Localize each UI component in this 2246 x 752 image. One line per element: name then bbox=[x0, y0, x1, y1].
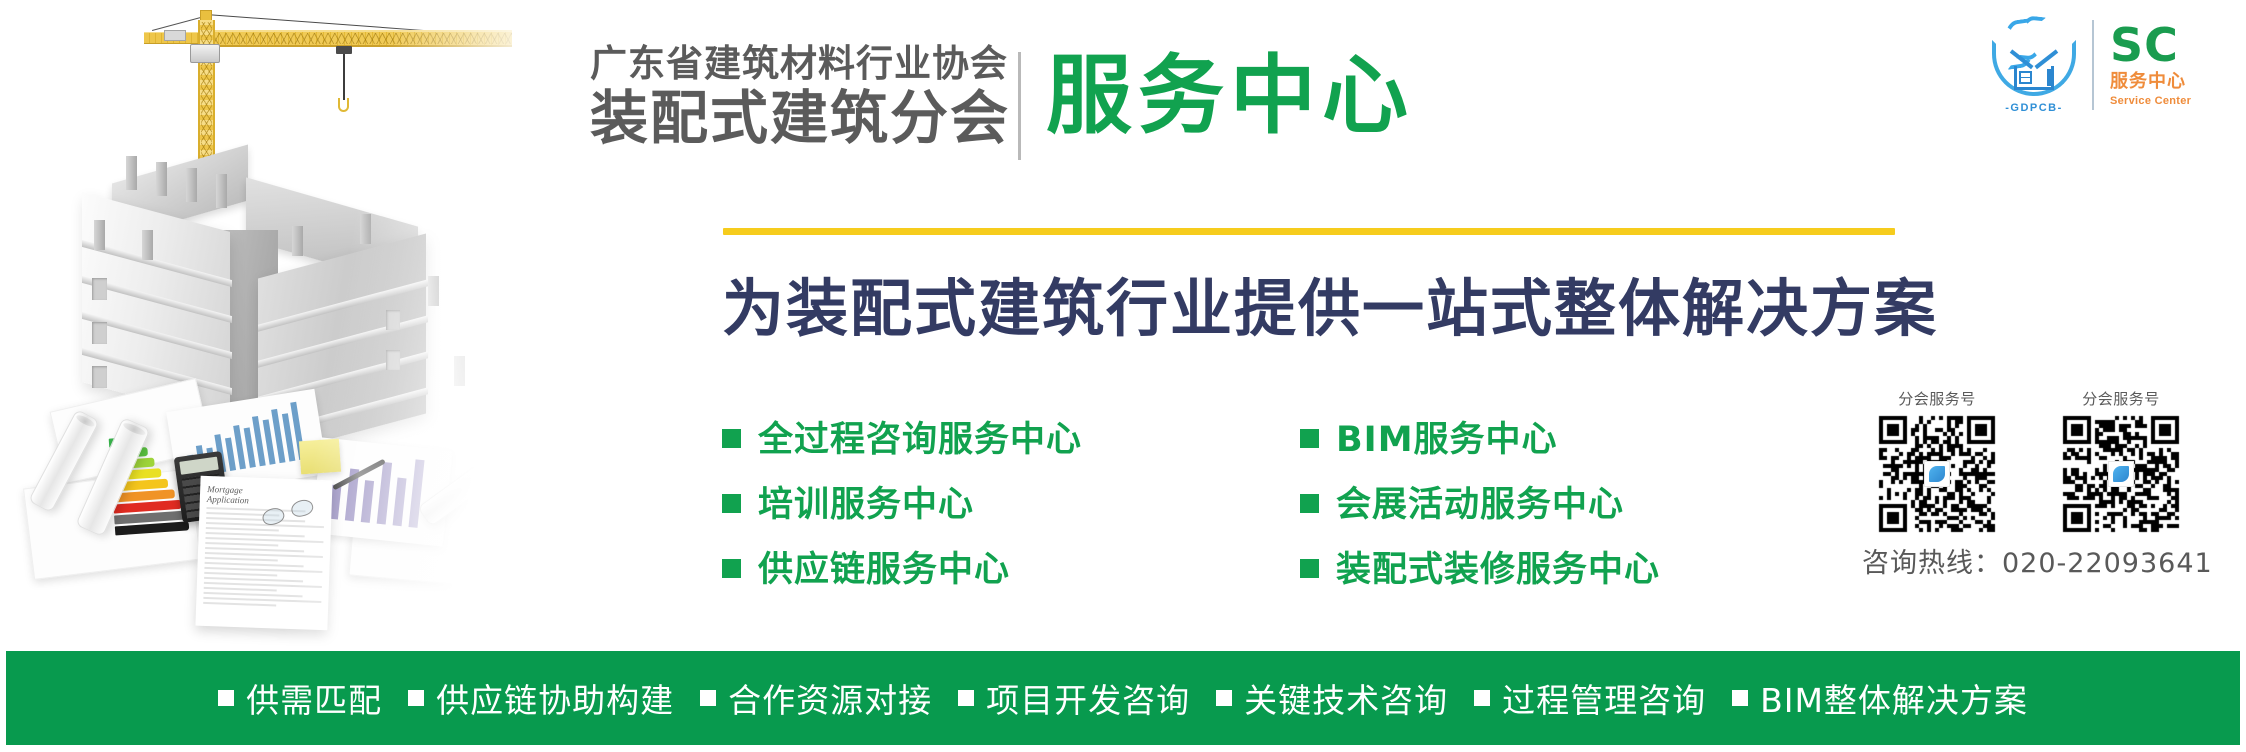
bottom-bar-item[interactable]: 供应链协助构建 bbox=[408, 674, 674, 722]
bottom-bar-item[interactable]: 关键技术咨询 bbox=[1216, 674, 1448, 722]
desk-documents: MortgageApplication bbox=[0, 400, 520, 650]
service-item-label: 培训服务中心 bbox=[758, 476, 974, 527]
emblem-code-label: -GDPCB- bbox=[1986, 102, 2082, 114]
column bbox=[428, 276, 439, 306]
bottom-bar-label: 项目开发咨询 bbox=[986, 674, 1190, 722]
column bbox=[142, 230, 153, 260]
association-branch-line2: 装配式建筑分会 bbox=[590, 86, 995, 151]
service-item-label: 全过程咨询服务中心 bbox=[758, 411, 1082, 462]
hotline-text: 咨询热线：020-22093641 bbox=[1862, 541, 2246, 580]
bullet-square-icon bbox=[722, 559, 741, 578]
bottom-bar-label: BIM整体解决方案 bbox=[1760, 674, 2028, 722]
bottom-bar-item[interactable]: 合作资源对接 bbox=[700, 674, 932, 722]
logo-group: -GDPCB- SC 服务中心 Service Center bbox=[1986, 14, 2236, 116]
window bbox=[92, 366, 107, 388]
service-item-label: 会展活动服务中心 bbox=[1336, 476, 1624, 527]
house-pillar bbox=[2047, 69, 2051, 86]
service-item-label: 供应链服务中心 bbox=[758, 541, 1010, 592]
bottom-bar-label: 关键技术咨询 bbox=[1244, 674, 1448, 722]
column bbox=[360, 214, 371, 244]
service-item[interactable]: 供应链服务中心 bbox=[722, 534, 1082, 599]
qr-cell: 分会服务号 bbox=[2046, 388, 2196, 533]
logo-divider bbox=[2092, 20, 2094, 110]
window bbox=[92, 322, 107, 344]
service-item[interactable]: BIM服务中心 bbox=[1300, 404, 1660, 469]
bullet-square-icon bbox=[1300, 429, 1319, 448]
bottom-bar-label: 合作资源对接 bbox=[728, 674, 932, 722]
gdpcb-emblem-icon: -GDPCB- bbox=[1986, 14, 2082, 114]
service-center-title: 服务中心 bbox=[1046, 46, 1414, 147]
qr-row: 分会服务号 分会服务号 bbox=[1862, 388, 2246, 533]
qr-label: 分会服务号 bbox=[2046, 388, 2196, 409]
bullet-square-icon bbox=[408, 690, 424, 706]
service-item-label: 装配式装修服务中心 bbox=[1336, 541, 1660, 592]
bullet-square-icon bbox=[1300, 494, 1319, 513]
bullet-square-icon bbox=[1474, 690, 1490, 706]
bottom-bar-label: 供应链协助构建 bbox=[436, 674, 674, 722]
qr-code-1[interactable] bbox=[1862, 415, 2012, 533]
sc-english-label: Service Center bbox=[2110, 95, 2232, 107]
house-shape bbox=[2008, 48, 2060, 90]
bullet-square-icon bbox=[1300, 559, 1319, 578]
service-column-left: 全过程咨询服务中心 培训服务中心 供应链服务中心 bbox=[722, 404, 1082, 599]
column bbox=[216, 174, 227, 208]
gold-divider-rule bbox=[723, 228, 1895, 235]
qr-center-logo-icon bbox=[2108, 461, 2134, 487]
bullet-square-icon bbox=[722, 429, 741, 448]
column bbox=[186, 168, 197, 202]
service-item[interactable]: 培训服务中心 bbox=[722, 469, 1082, 534]
bottom-bar-item[interactable]: 过程管理咨询 bbox=[1474, 674, 1706, 722]
banner-root: MortgageApplication 广东省建筑材料行业协会 装配式建筑分会 … bbox=[0, 0, 2246, 752]
bottom-bar-label: 供需匹配 bbox=[246, 674, 382, 722]
column bbox=[454, 356, 465, 386]
bullet-square-icon bbox=[700, 690, 716, 706]
calculator-screen bbox=[179, 457, 218, 475]
qr-center-logo-icon bbox=[1924, 461, 1950, 487]
column bbox=[126, 156, 137, 190]
bottom-service-bar: 供需匹配 供应链协助构建 合作资源对接 项目开发咨询 关键技术咨询 过程管理咨询 bbox=[6, 651, 2240, 745]
house-window bbox=[2019, 71, 2032, 84]
bullet-square-icon bbox=[1216, 690, 1232, 706]
service-item[interactable]: 会展活动服务中心 bbox=[1300, 469, 1660, 534]
crane-trolley bbox=[336, 46, 352, 54]
qr-label: 分会服务号 bbox=[1862, 388, 2012, 409]
crane-cab bbox=[190, 44, 220, 63]
column bbox=[94, 220, 105, 250]
window bbox=[386, 310, 400, 330]
main-slogan: 为装配式建筑行业提供一站式整体解决方案 bbox=[722, 258, 1938, 348]
sc-abbreviation: SC bbox=[2110, 22, 2232, 68]
title-divider bbox=[1018, 52, 1021, 160]
qr-contact-block: 分会服务号 分会服务号 咨询热线：020-22093641 bbox=[1862, 388, 2246, 580]
service-item-label: BIM服务中心 bbox=[1336, 411, 1558, 462]
crane-hook bbox=[338, 98, 349, 112]
bottom-bar-label: 过程管理咨询 bbox=[1502, 674, 1706, 722]
bottom-bar-item[interactable]: 项目开发咨询 bbox=[958, 674, 1190, 722]
qr-cell: 分会服务号 bbox=[1862, 388, 2012, 533]
association-name-line1: 广东省建筑材料行业协会 bbox=[590, 44, 995, 84]
bullet-square-icon bbox=[1732, 690, 1748, 706]
service-item[interactable]: 装配式装修服务中心 bbox=[1300, 534, 1660, 599]
bottom-bar-items: 供需匹配 供应链协助构建 合作资源对接 项目开发咨询 关键技术咨询 过程管理咨询 bbox=[218, 674, 2028, 722]
bottom-bar-item[interactable]: 供需匹配 bbox=[218, 674, 382, 722]
sc-logo: SC 服务中心 Service Center bbox=[2110, 22, 2232, 107]
qr-code-2[interactable] bbox=[2046, 415, 2196, 533]
bullet-square-icon bbox=[958, 690, 974, 706]
crane-cable bbox=[343, 54, 345, 100]
sc-chinese-label: 服务中心 bbox=[2110, 71, 2232, 94]
column bbox=[292, 226, 303, 256]
crane-jib bbox=[212, 30, 512, 47]
bottom-bar-item[interactable]: BIM整体解决方案 bbox=[1732, 674, 2028, 722]
sticky-note bbox=[299, 439, 341, 475]
bullet-square-icon bbox=[722, 494, 741, 513]
column bbox=[156, 162, 167, 196]
hero-construction-image: MortgageApplication bbox=[0, 0, 520, 650]
window bbox=[386, 350, 400, 370]
window bbox=[92, 278, 107, 300]
service-column-right: BIM服务中心 会展活动服务中心 装配式装修服务中心 bbox=[1300, 404, 1660, 599]
association-title: 广东省建筑材料行业协会 装配式建筑分会 bbox=[590, 44, 995, 151]
bullet-square-icon bbox=[218, 690, 234, 706]
service-item[interactable]: 全过程咨询服务中心 bbox=[722, 404, 1082, 469]
